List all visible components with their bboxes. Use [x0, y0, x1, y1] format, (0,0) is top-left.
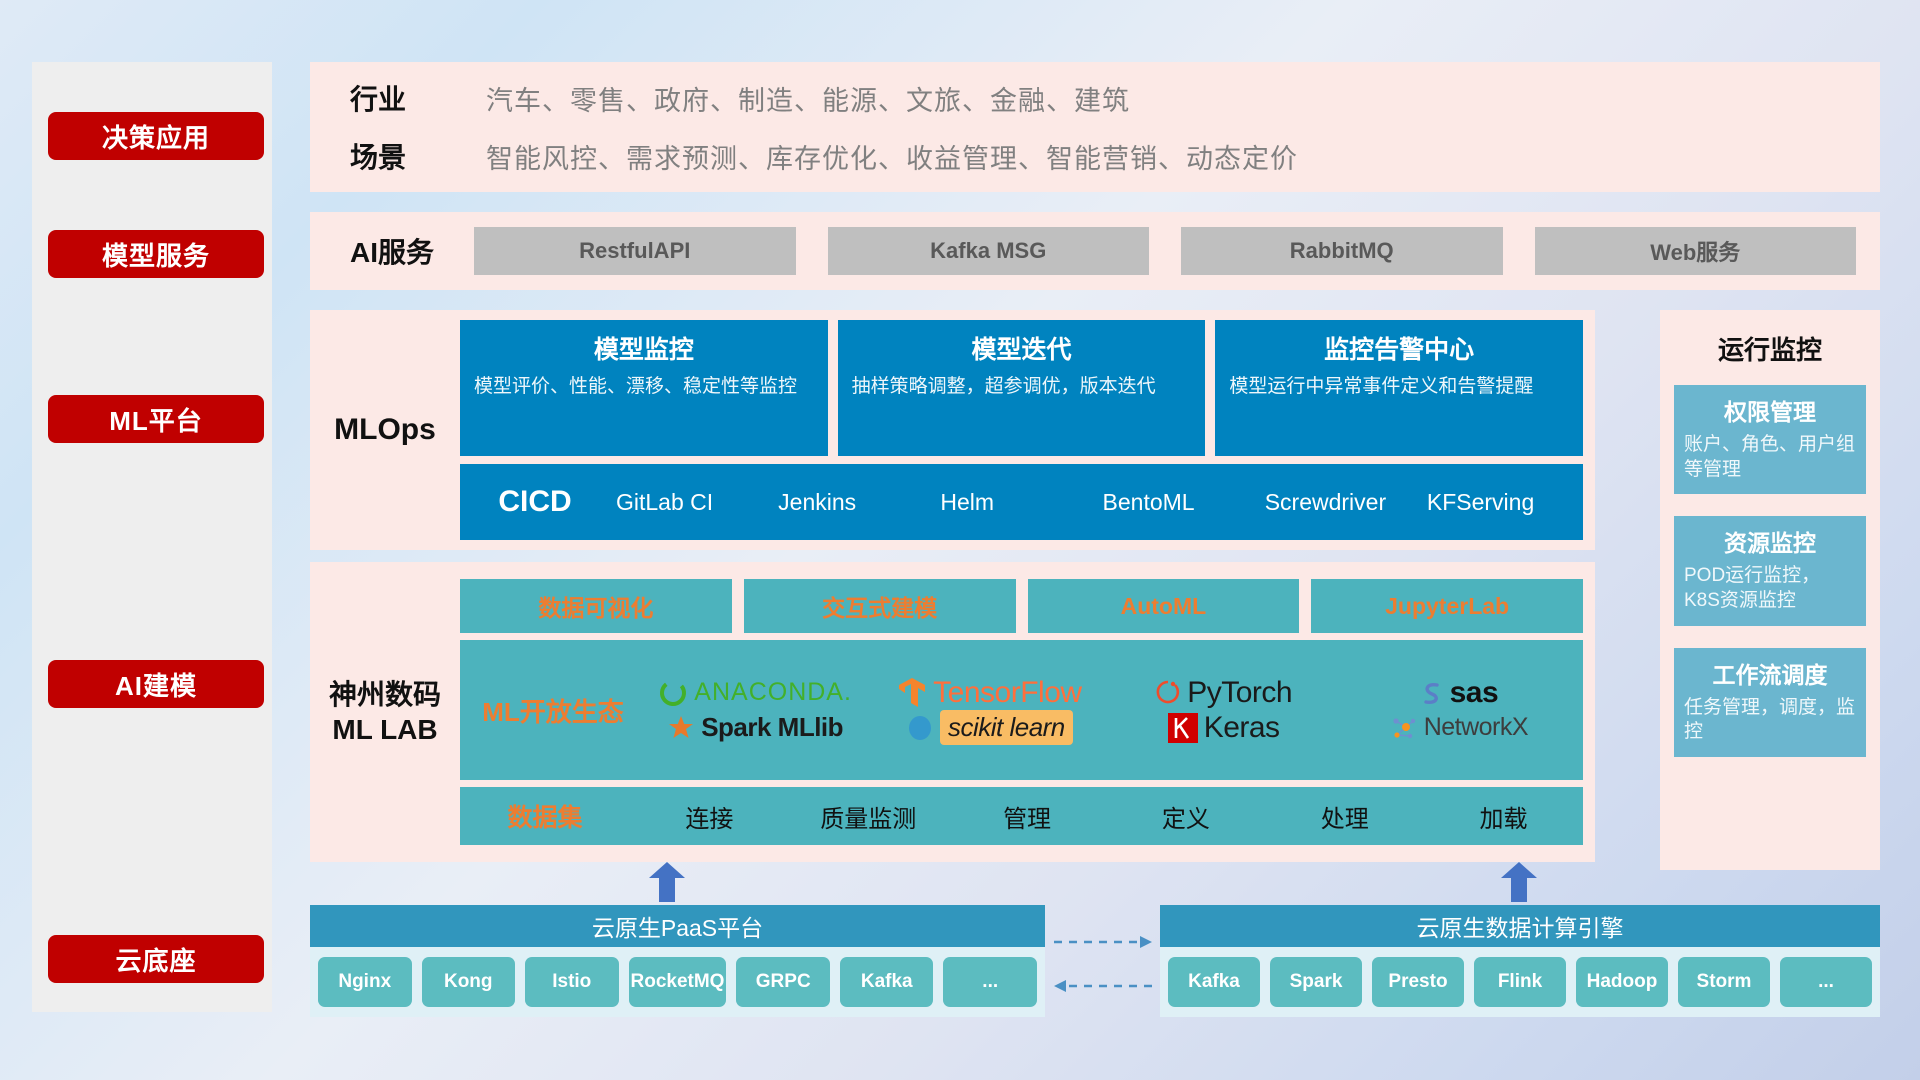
spark-star-icon	[667, 714, 695, 742]
paas-chip-kong[interactable]: Kong	[422, 957, 516, 1007]
card-title: 工作流调度	[1684, 656, 1856, 690]
scenario-key: 场景	[350, 136, 446, 176]
scikit-blob-icon	[906, 714, 934, 742]
up-arrow-data-engine	[1497, 862, 1541, 902]
pytorch-icon	[1155, 678, 1181, 708]
architecture-diagram: 决策应用 模型服务 ML平台 AI建模 云底座 行业 汽车、零售、政府、制造、能…	[0, 0, 1920, 1080]
up-arrow-paas	[645, 862, 689, 902]
dataset-row: 数据集 连接 质量监测 管理 定义 处理 加载	[460, 787, 1583, 845]
engine-chip-more[interactable]: ...	[1780, 957, 1872, 1007]
dataset-item-connect[interactable]: 连接	[630, 799, 789, 834]
service-chip-restfulapi[interactable]: RestfulAPI	[474, 227, 796, 275]
keras-icon	[1168, 713, 1198, 743]
dataset-label: 数据集	[460, 798, 630, 834]
ai-service-band: AI服务 RestfulAPI Kafka MSG RabbitMQ Web服务	[310, 212, 1880, 290]
mlops-card-model-iteration[interactable]: 模型迭代 抽样策略调整，超参调优，版本迭代	[838, 320, 1206, 456]
monitoring-card-permission[interactable]: 权限管理 账户、角色、用户组等管理	[1674, 385, 1866, 494]
engine-chip-flink[interactable]: Flink	[1474, 957, 1566, 1007]
dataset-item-manage[interactable]: 管理	[948, 799, 1107, 834]
card-desc: 账户、角色、用户组等管理	[1684, 433, 1856, 482]
cicd-item-helm[interactable]: Helm	[934, 489, 1096, 515]
layer-tag-label: AI建模	[115, 666, 197, 703]
paas-chip-nginx[interactable]: Nginx	[318, 957, 412, 1007]
layer-tag-ml-platform[interactable]: ML平台	[48, 395, 264, 443]
dataset-item-process[interactable]: 处理	[1265, 799, 1424, 834]
layer-rail	[32, 62, 272, 1012]
paas-group: 云原生PaaS平台 Nginx Kong Istio RocketMQ GRPC…	[310, 905, 1045, 1017]
card-desc: 抽样策略调整，超参调优，版本迭代	[852, 374, 1192, 400]
industry-value: 汽车、零售、政府、制造、能源、文旅、金融、建筑	[486, 79, 1130, 118]
sas-icon	[1418, 678, 1444, 708]
service-chip-web-service[interactable]: Web服务	[1535, 227, 1857, 275]
spark-mllib-logo: Spark MLlib	[667, 712, 843, 743]
networkx-logo: NetworkX	[1388, 713, 1528, 743]
dataset-item-load[interactable]: 加载	[1424, 799, 1583, 834]
card-title: 模型监控	[474, 330, 814, 366]
networkx-label: NetworkX	[1424, 713, 1528, 742]
ai-modeling-band: 神州数码 ML LAB 数据可视化 交互式建模 AutoML JupyterLa…	[310, 562, 1595, 862]
engine-chip-kafka[interactable]: Kafka	[1168, 957, 1260, 1007]
monitoring-title: 运行监控	[1674, 330, 1866, 367]
card-title: 资源监控	[1684, 524, 1856, 558]
layer-tag-label: 模型服务	[102, 236, 210, 273]
monitoring-card-resource[interactable]: 资源监控 POD运行监控，K8S资源监控	[1674, 516, 1866, 625]
dataset-item-quality[interactable]: 质量监测	[789, 799, 948, 834]
spark-label: Spark MLlib	[701, 712, 843, 743]
mlops-card-alert-center[interactable]: 监控告警中心 模型运行中异常事件定义和告警提醒	[1215, 320, 1583, 456]
cicd-item-kfserving[interactable]: KFServing	[1421, 489, 1583, 515]
sas-logo: sas	[1418, 676, 1499, 710]
cicd-title: CICD	[460, 485, 610, 519]
anaconda-logo: ANACONDA.	[658, 678, 852, 708]
engine-chip-spark[interactable]: Spark	[1270, 957, 1362, 1007]
card-title: 监控告警中心	[1229, 330, 1569, 366]
industry-key: 行业	[350, 78, 446, 118]
card-desc: POD运行监控，K8S资源监控	[1684, 564, 1856, 613]
dataset-item-define[interactable]: 定义	[1106, 799, 1265, 834]
cicd-item-jenkins[interactable]: Jenkins	[772, 489, 934, 515]
layer-tag-cloud-base[interactable]: 云底座	[48, 935, 264, 983]
application-band: 行业 汽车、零售、政府、制造、能源、文旅、金融、建筑 场景 智能风控、需求预测、…	[310, 62, 1880, 192]
scikit-learn-logo: scikit learn	[906, 710, 1073, 745]
tool-chip-data-visualization[interactable]: 数据可视化	[460, 579, 732, 633]
scenario-value: 智能风控、需求预测、库存优化、收益管理、智能营销、动态定价	[486, 137, 1298, 176]
networkx-icon	[1388, 713, 1418, 743]
paas-title: 云原生PaaS平台	[310, 905, 1045, 947]
monitoring-card-workflow[interactable]: 工作流调度 任务管理，调度，监控	[1674, 648, 1866, 757]
engine-chip-hadoop[interactable]: Hadoop	[1576, 957, 1668, 1007]
cicd-item-gitlab-ci[interactable]: GitLab CI	[610, 489, 772, 515]
tool-chip-automl[interactable]: AutoML	[1028, 579, 1300, 633]
card-desc: 模型运行中异常事件定义和告警提醒	[1229, 374, 1569, 400]
layer-tag-label: 决策应用	[102, 118, 210, 155]
paas-chip-istio[interactable]: Istio	[525, 957, 619, 1007]
keras-label: Keras	[1204, 711, 1280, 745]
ecosystem-label: ML开放生态	[468, 692, 638, 729]
mlops-label: MLOps	[310, 413, 460, 447]
tool-chip-interactive-modeling[interactable]: 交互式建模	[744, 579, 1016, 633]
ai-service-label: AI服务	[334, 231, 474, 271]
cicd-item-bentoml[interactable]: BentoML	[1097, 489, 1259, 515]
paas-chip-more[interactable]: ...	[943, 957, 1037, 1007]
data-engine-group: 云原生数据计算引擎 Kafka Spark Presto Flink Hadoo…	[1160, 905, 1880, 1017]
cicd-bar: CICD GitLab CI Jenkins Helm BentoML Scre…	[460, 464, 1583, 540]
paas-chip-kafka[interactable]: Kafka	[840, 957, 934, 1007]
sas-label: sas	[1450, 676, 1499, 710]
ml-ecosystem-row: ML开放生态 ANACONDA. TensorFlow	[460, 640, 1583, 780]
keras-logo: Keras	[1168, 711, 1280, 745]
layer-tag-model-service[interactable]: 模型服务	[48, 230, 264, 278]
engine-chip-storm[interactable]: Storm	[1678, 957, 1770, 1007]
paas-chip-grpc[interactable]: GRPC	[736, 957, 830, 1007]
ml-lab-label: 神州数码 ML LAB	[310, 677, 460, 747]
cicd-item-screwdriver[interactable]: Screwdriver	[1259, 489, 1421, 515]
bidirectional-dashed-link	[1048, 930, 1158, 1000]
card-title: 模型迭代	[852, 330, 1192, 366]
layer-tag-decision-app[interactable]: 决策应用	[48, 112, 264, 160]
tensorflow-label: TensorFlow	[933, 676, 1081, 710]
tensorflow-icon	[897, 676, 927, 710]
anaconda-label: ANACONDA.	[694, 678, 852, 707]
layer-tag-label: ML平台	[109, 401, 203, 438]
service-chip-kafka-msg[interactable]: Kafka MSG	[828, 227, 1150, 275]
mlops-band: MLOps 模型监控 模型评价、性能、漂移、稳定性等监控 模型迭代 抽样策略调整…	[310, 310, 1595, 550]
tensorflow-logo: TensorFlow	[897, 676, 1081, 710]
scenario-row: 场景 智能风控、需求预测、库存优化、收益管理、智能营销、动态定价	[350, 136, 1880, 176]
scikit-label: scikit learn	[940, 710, 1073, 745]
industry-row: 行业 汽车、零售、政府、制造、能源、文旅、金融、建筑	[350, 78, 1880, 118]
card-desc: 任务管理，调度，监控	[1684, 696, 1856, 745]
card-title: 权限管理	[1684, 393, 1856, 427]
paas-chip-rocketmq[interactable]: RocketMQ	[629, 957, 727, 1007]
anaconda-icon	[658, 678, 688, 708]
mlops-card-model-monitoring[interactable]: 模型监控 模型评价、性能、漂移、稳定性等监控	[460, 320, 828, 456]
tool-chip-jupyterlab[interactable]: JupyterLab	[1311, 579, 1583, 633]
runtime-monitoring-band: 运行监控 权限管理 账户、角色、用户组等管理 资源监控 POD运行监控，K8S资…	[1660, 310, 1880, 870]
engine-chip-presto[interactable]: Presto	[1372, 957, 1464, 1007]
card-desc: 模型评价、性能、漂移、稳定性等监控	[474, 374, 814, 400]
data-engine-title: 云原生数据计算引擎	[1160, 905, 1880, 947]
layer-tag-ai-modeling[interactable]: AI建模	[48, 660, 264, 708]
service-chip-rabbitmq[interactable]: RabbitMQ	[1181, 227, 1503, 275]
layer-tag-label: 云底座	[115, 941, 196, 978]
pytorch-label: PyTorch	[1187, 676, 1292, 710]
pytorch-logo: PyTorch	[1155, 676, 1292, 710]
